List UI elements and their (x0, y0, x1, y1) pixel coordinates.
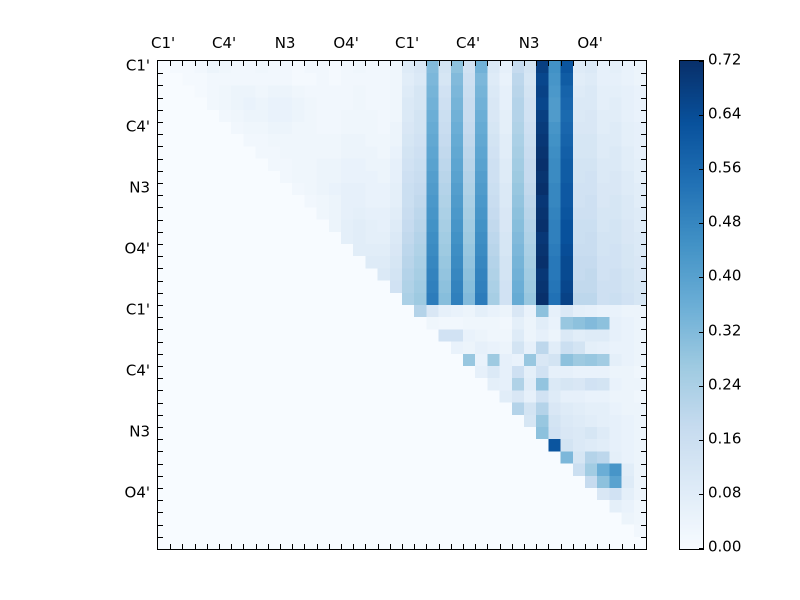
x-tick-label: O4' (333, 36, 358, 51)
x-tick-label: N3 (519, 36, 540, 51)
colorbar-tick-label: 0.72 (708, 53, 741, 68)
colorbar-tick-label: 0.40 (708, 269, 741, 284)
x-tick-label: C4' (456, 36, 480, 51)
x-tick-label: O4' (577, 36, 602, 51)
colorbar-tick-label: 0.00 (708, 540, 741, 555)
x-tick-label: C1' (395, 36, 419, 51)
x-tick-label: C1' (151, 36, 175, 51)
y-tick-label: N3 (129, 181, 150, 196)
y-tick-label: O4' (125, 486, 150, 501)
colorbar-gradient (680, 61, 703, 549)
figure-canvas: C1'C4'N3O4'C1'C4'N3O4' C1'C4'N3O4'C1'C4'… (0, 0, 800, 600)
colorbar-tick-label: 0.08 (708, 485, 741, 500)
y-tick-label: C4' (126, 120, 150, 135)
y-tick-label: C4' (126, 364, 150, 379)
colorbar-tick-label: 0.16 (708, 431, 741, 446)
y-tick-label: O4' (125, 242, 150, 257)
heatmap-image (158, 61, 646, 549)
colorbar-tick-label: 0.48 (708, 215, 741, 230)
x-tick-label: C4' (212, 36, 236, 51)
colorbar-tick-label: 0.24 (708, 377, 741, 392)
y-tick-label: N3 (129, 425, 150, 440)
colorbar-tick-label: 0.32 (708, 323, 741, 338)
colorbar-tick-label: 0.64 (708, 107, 741, 122)
heatmap-axes (157, 60, 647, 550)
y-tick-label: C1' (126, 303, 150, 318)
colorbar-axes (679, 60, 704, 550)
x-tick-label: N3 (275, 36, 296, 51)
y-tick-label: C1' (126, 59, 150, 74)
colorbar-tick-label: 0.56 (708, 161, 741, 176)
